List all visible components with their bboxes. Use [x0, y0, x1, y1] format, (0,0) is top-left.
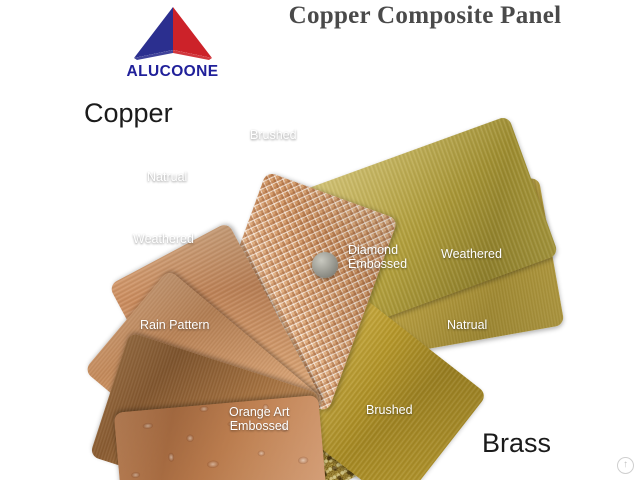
sample-panel-fan: Natrual Weathered Brushed Orange Art Emb…: [0, 0, 640, 480]
circle-up-arrow-icon: ↑: [617, 457, 634, 474]
panel-label-copper-weathered: Weathered: [133, 232, 194, 246]
panel-label-brass-natural: Natrual: [447, 318, 487, 332]
panel-label-copper-natural: Natrual: [147, 170, 187, 184]
panel-label-copper-rain-pattern: Rain Pattern: [140, 318, 209, 332]
panel-label-copper-brushed: Brushed: [250, 128, 297, 142]
panel-label-brass-brushed: Brushed: [366, 403, 413, 417]
panel-label-orange-art-embossed: Orange Art Embossed: [229, 405, 289, 433]
product-image-canvas: Copper Composite Panel ALUCOONE Copper B…: [0, 0, 640, 480]
panel-label-brass-weathered: Weathered: [441, 247, 502, 261]
panel-label-copper-diamond-embossed: Diamond Embossed: [348, 243, 407, 271]
pivot-rivet-icon: [312, 252, 338, 278]
